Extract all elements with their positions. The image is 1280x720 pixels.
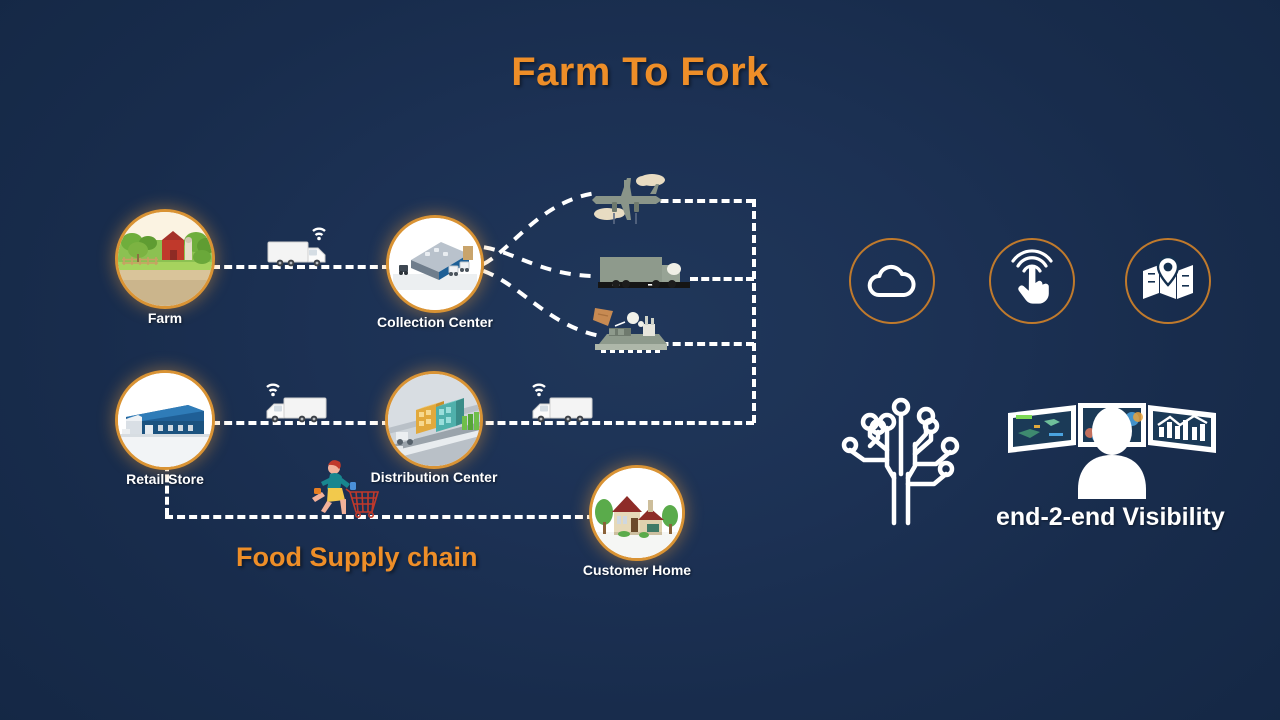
cargo-ship-icon xyxy=(585,300,675,356)
wifi-signal-icon xyxy=(313,229,325,241)
food-supply-chain-label: Food Supply chain xyxy=(236,542,478,573)
monitor-left xyxy=(1008,405,1076,453)
transport-truck-farm-to-collection xyxy=(262,218,336,275)
shopper-with-cart xyxy=(300,458,380,525)
semi-truck-icon xyxy=(598,253,698,295)
transport-cargo-ship xyxy=(585,300,675,361)
circuit-tree xyxy=(826,388,976,528)
wifi-signal-icon xyxy=(533,385,545,397)
house-illustration xyxy=(592,468,682,558)
connector-road-to-trunk xyxy=(690,277,754,281)
wifi-signal-icon xyxy=(267,385,279,397)
distribution-center-circle xyxy=(388,374,480,466)
node-label: Distribution Center xyxy=(371,469,498,485)
retail-store-illustration xyxy=(118,373,212,467)
circuit-tree-icon xyxy=(826,388,976,523)
transport-truck-to-distribution xyxy=(528,374,602,431)
connected-truck-icon xyxy=(262,218,336,270)
connected-truck-icon xyxy=(262,374,336,426)
farm-illustration xyxy=(118,212,212,306)
node-farm[interactable]: Farm xyxy=(118,212,212,306)
map-location-icon-circle[interactable] xyxy=(1125,238,1211,324)
slide-canvas: Farm To Fork xyxy=(0,0,1280,720)
cloud-icon-circle[interactable] xyxy=(849,238,935,324)
connected-truck-icon xyxy=(528,374,602,426)
node-label: Collection Center xyxy=(377,314,493,330)
farm-circle xyxy=(118,212,212,306)
warehouse-illustration xyxy=(389,218,481,310)
cloud-icon xyxy=(865,261,919,301)
person-with-monitors-icon xyxy=(1004,403,1220,499)
node-label: Farm xyxy=(148,310,182,326)
page-title: Farm To Fork xyxy=(0,50,1280,95)
collection-center-circle xyxy=(389,218,481,310)
transport-freight-truck xyxy=(598,253,698,300)
shopper-with-cart-icon xyxy=(300,458,380,520)
transport-truck-retail xyxy=(262,374,336,431)
connector-retail-to-customer-home xyxy=(165,515,595,519)
touch-signal-icon-circle[interactable] xyxy=(989,238,1075,324)
node-label: Retail Store xyxy=(126,471,204,487)
node-collection-center[interactable]: Collection Center xyxy=(389,218,481,310)
connector-trunk-to-distribution xyxy=(462,421,754,425)
retail-store-circle xyxy=(118,373,212,467)
transport-airplane xyxy=(588,166,674,235)
node-label: Customer Home xyxy=(583,562,691,578)
dashboards-visual xyxy=(1004,403,1220,504)
end-2-end-visibility-label: end-2-end Visibility xyxy=(996,503,1225,532)
map-location-icon xyxy=(1141,257,1195,305)
node-distribution-center[interactable]: Distribution Center xyxy=(388,374,480,466)
monitor-right xyxy=(1148,405,1216,453)
node-customer-home[interactable]: Customer Home xyxy=(592,468,682,558)
airplane-icon xyxy=(588,166,674,230)
connector-trunk-vertical xyxy=(752,199,756,423)
node-retail-store[interactable]: Retail Store xyxy=(118,373,212,467)
customer-home-circle xyxy=(592,468,682,558)
distribution-warehouse-illustration xyxy=(388,374,480,466)
touch-signal-icon xyxy=(1006,255,1058,307)
